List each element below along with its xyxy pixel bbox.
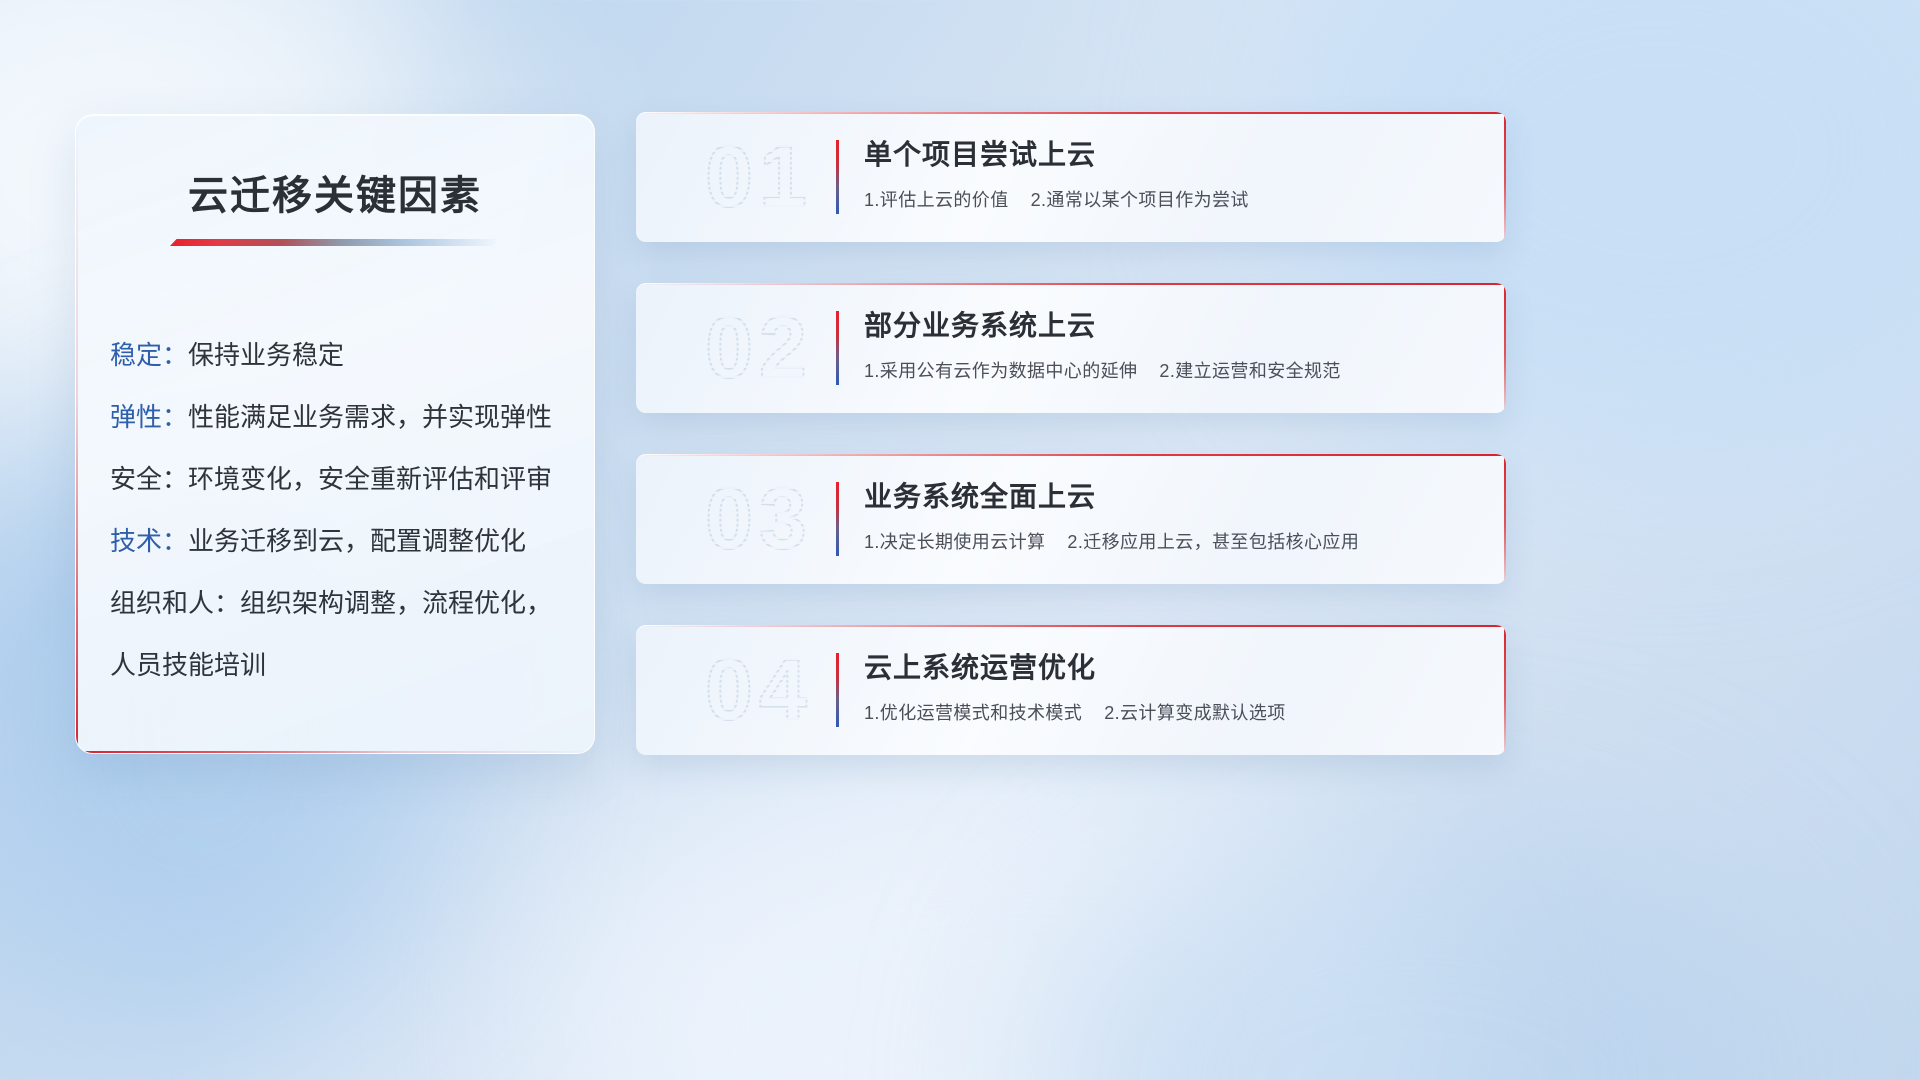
key-factor-row: 稳定：保持业务稳定: [110, 324, 560, 386]
stage-card-points: 1.采用公有云作为数据中心的延伸2.建立运营和安全规范: [864, 357, 1466, 383]
key-factor-label: 技术：: [110, 526, 188, 556]
stage-card[interactable]: 01单个项目尝试上云1.评估上云的价值2.通常以某个项目作为尝试: [636, 112, 1506, 242]
stage-card-point: 2.通常以某个项目作为尝试: [1031, 190, 1249, 210]
stage-card-title: 云上系统运营优化: [864, 651, 1466, 685]
key-factor-row: 人员技能培训: [110, 634, 560, 696]
key-factor-label: 弹性：: [110, 402, 188, 432]
key-factor-row: 弹性：性能满足业务需求，并实现弹性: [110, 386, 560, 448]
stage-card-point: 2.迁移应用上云，甚至包括核心应用: [1067, 532, 1359, 552]
stage-card-points: 1.决定长期使用云计算2.迁移应用上云，甚至包括核心应用: [864, 528, 1466, 554]
key-factor-row: 组织和人：组织架构调整，流程优化，: [110, 572, 560, 634]
key-factor-row: 安全：环境变化，安全重新评估和评审: [110, 448, 560, 510]
stage-number-watermark: 02: [664, 293, 854, 403]
key-factor-label: 组织和人：: [110, 588, 240, 618]
stage-card-point: 1.优化运营模式和技术模式: [864, 703, 1082, 723]
stage-card-point: 1.评估上云的价值: [864, 190, 1009, 210]
stage-number-watermark: 04: [664, 635, 854, 745]
stage-card[interactable]: 03业务系统全面上云1.决定长期使用云计算2.迁移应用上云，甚至包括核心应用: [636, 454, 1506, 584]
stage-card-title: 单个项目尝试上云: [864, 138, 1466, 172]
accent-bar-icon: [836, 482, 839, 556]
key-factor-value: 组织架构调整，流程优化，: [240, 588, 552, 618]
key-factor-label: 稳定：: [110, 340, 188, 370]
stage-cards-list: 01单个项目尝试上云1.评估上云的价值2.通常以某个项目作为尝试02部分业务系统…: [636, 112, 1506, 796]
key-factor-label: 安全：: [110, 464, 188, 494]
key-factor-value: 业务迁移到云，配置调整优化: [188, 526, 526, 556]
slide-stage: 云迁移关键因素 稳定：保持业务稳定弹性：性能满足业务需求，并实现弹性安全：环境变…: [0, 0, 1920, 1080]
stage-card[interactable]: 04云上系统运营优化1.优化运营模式和技术模式2.云计算变成默认选项: [636, 625, 1506, 755]
stage-card-body: 云上系统运营优化1.优化运营模式和技术模式2.云计算变成默认选项: [864, 651, 1466, 725]
stage-card-point: 1.决定长期使用云计算: [864, 532, 1045, 552]
stage-card-points: 1.评估上云的价值2.通常以某个项目作为尝试: [864, 186, 1466, 212]
stage-card-body: 业务系统全面上云1.决定长期使用云计算2.迁移应用上云，甚至包括核心应用: [864, 480, 1466, 554]
stage-card-title: 业务系统全面上云: [864, 480, 1466, 514]
stage-card-body: 部分业务系统上云1.采用公有云作为数据中心的延伸2.建立运营和安全规范: [864, 309, 1466, 383]
title-underline-accent: [170, 239, 500, 246]
key-factors-list: 稳定：保持业务稳定弹性：性能满足业务需求，并实现弹性安全：环境变化，安全重新评估…: [76, 324, 594, 696]
key-factors-panel: 云迁移关键因素 稳定：保持业务稳定弹性：性能满足业务需求，并实现弹性安全：环境变…: [75, 114, 595, 754]
stage-card-point: 2.云计算变成默认选项: [1104, 703, 1285, 723]
accent-bar-icon: [836, 140, 839, 214]
key-factor-value: 性能满足业务需求，并实现弹性: [188, 402, 552, 432]
stage-card-points: 1.优化运营模式和技术模式2.云计算变成默认选项: [864, 699, 1466, 725]
key-factor-row: 技术：业务迁移到云，配置调整优化: [110, 510, 560, 572]
key-factor-value: 保持业务稳定: [188, 340, 344, 370]
stage-card-point: 2.建立运营和安全规范: [1159, 361, 1340, 381]
stage-card-body: 单个项目尝试上云1.评估上云的价值2.通常以某个项目作为尝试: [864, 138, 1466, 212]
stage-number-watermark: 01: [664, 122, 854, 232]
page-title: 云迁移关键因素: [76, 163, 594, 221]
key-factor-value: 环境变化，安全重新评估和评审: [188, 464, 552, 494]
stage-card-point: 1.采用公有云作为数据中心的延伸: [864, 361, 1137, 381]
accent-bar-icon: [836, 311, 839, 385]
key-factor-value: 人员技能培训: [110, 650, 266, 680]
stage-number-watermark: 03: [664, 464, 854, 574]
accent-bar-icon: [836, 653, 839, 727]
stage-card-title: 部分业务系统上云: [864, 309, 1466, 343]
stage-card[interactable]: 02部分业务系统上云1.采用公有云作为数据中心的延伸2.建立运营和安全规范: [636, 283, 1506, 413]
